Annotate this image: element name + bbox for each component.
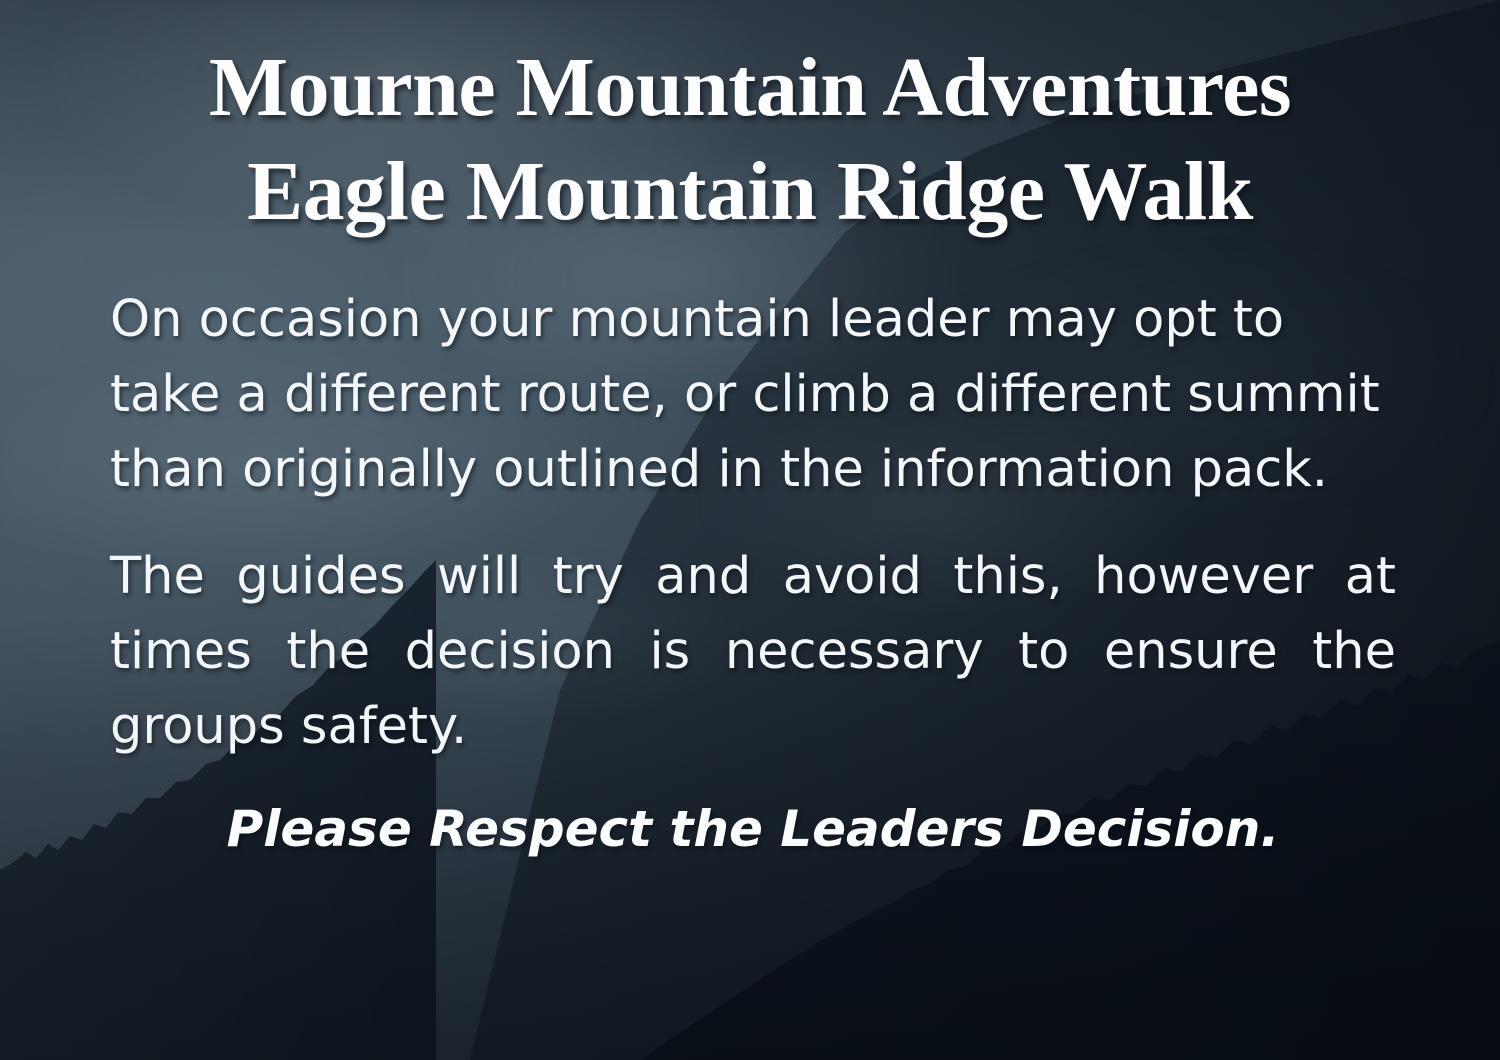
slide-content: Mourne Mountain Adventures Eagle Mountai… bbox=[0, 0, 1500, 1060]
body-paragraph-1: On occasion your mountain leader may opt… bbox=[110, 282, 1396, 507]
title-line-1: Mourne Mountain Adventures bbox=[60, 36, 1440, 140]
body-paragraph-2: The guides will try and avoid this, howe… bbox=[110, 539, 1396, 764]
closing-statement: Please Respect the Leaders Decision. bbox=[110, 798, 1396, 860]
slide-title: Mourne Mountain Adventures Eagle Mountai… bbox=[60, 36, 1440, 244]
slide-body: On occasion your mountain leader may opt… bbox=[110, 282, 1396, 764]
title-line-2: Eagle Mountain Ridge Walk bbox=[60, 140, 1440, 244]
presentation-slide: Mourne Mountain Adventures Eagle Mountai… bbox=[0, 0, 1500, 1060]
